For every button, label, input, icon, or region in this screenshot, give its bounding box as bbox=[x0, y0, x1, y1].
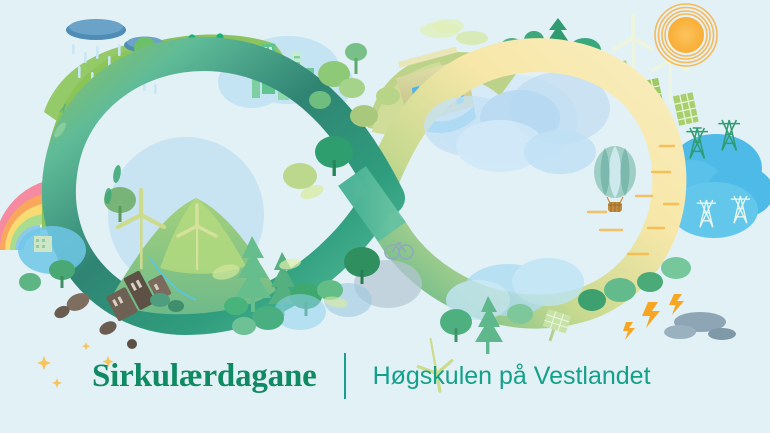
organisation-name: Høgskulen på Vestlandet bbox=[373, 364, 651, 389]
brand-lockup: Sirkulærdagane Høgskulen på Vestlandet bbox=[0, 348, 770, 404]
sun bbox=[655, 4, 717, 66]
rain-cloud-large bbox=[66, 19, 126, 40]
page-title: Sirkulærdagane bbox=[92, 360, 317, 393]
poster-canvas: Sirkulærdagane Høgskulen på Vestlandet bbox=[0, 0, 770, 433]
lockup-divider bbox=[344, 353, 346, 399]
